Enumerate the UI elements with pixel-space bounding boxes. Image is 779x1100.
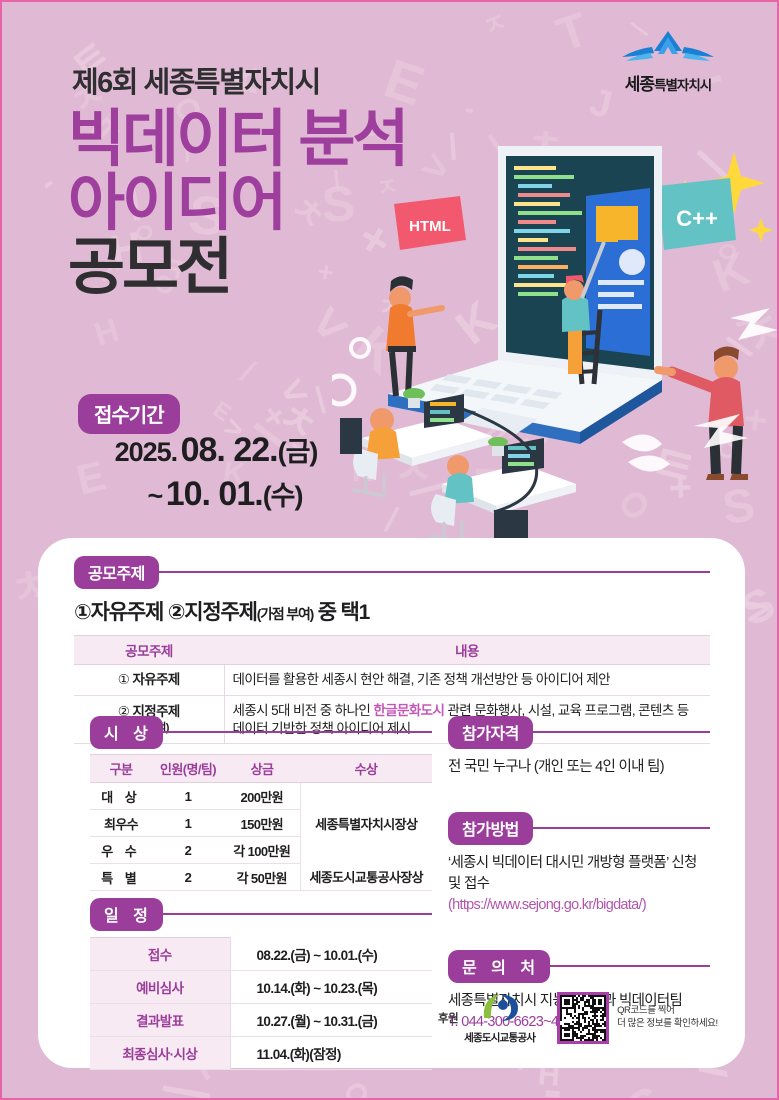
section-eligibility: 참가자격 전 국민 누구나 (개인 또는 4인 이내 팀) xyxy=(448,718,710,778)
awards-col-head-1: 인원(명/팀) xyxy=(152,755,224,783)
topic-subtitle-main: ①자유주제 ②지정주제 xyxy=(74,601,257,624)
section-eligibility-header: 참가자격 xyxy=(448,718,710,746)
table-row: ① 자유주제 데이터를 활용한 세종시 현안 해결, 기존 정책 개선방안 등 … xyxy=(74,665,710,696)
section-howto: 참가방법 ‘세종시 빅데이터 대시민 개방형 플랫폼’ 신청 및 접수 (htt… xyxy=(448,814,710,916)
sejong-city-logo: 세종특별자치시 xyxy=(593,29,743,95)
howto-url[interactable]: (https://www.sejong.go.kr/bigdata/) xyxy=(448,895,710,916)
award-row-2-count: 2 xyxy=(152,837,224,864)
table-row: 예비심사 10.14.(화) ~ 10.23.(목) xyxy=(90,971,432,1004)
date-range-dash: ~ xyxy=(147,481,162,511)
award-row-0-count: 1 xyxy=(152,783,224,810)
topic-subtitle: ①자유주제 ②지정주제(가점 부여) 중 택1 xyxy=(74,596,710,626)
eligibility-body: 전 국민 누구나 (개인 또는 4인 이내 팀) xyxy=(448,757,710,778)
qr-block: QR코드를 찍어 더 많은 정보를 확인하세요! xyxy=(557,992,718,1044)
html-tag-badge: HTML xyxy=(394,196,466,250)
person-pointing xyxy=(386,276,442,396)
howto-body: ‘세종시 빅데이터 대시민 개방형 플랫폼’ 신청 및 접수 (https://… xyxy=(448,853,710,916)
schedule-table: 접수 08.22.(금) ~ 10.01.(수) 예비심사 10.14.(화) … xyxy=(90,937,432,1070)
topic-col-head-1: 내용 xyxy=(224,636,710,665)
date-start-value: 08. 22. xyxy=(181,431,278,469)
section-schedule: 일 정 접수 08.22.(금) ~ 10.01.(수) 예비심사 10.14.… xyxy=(90,900,432,1070)
award-row-1-grade: 최우수 xyxy=(90,810,152,837)
award-row-0-grade: 대 상 xyxy=(90,783,152,810)
award-row-3-count: 2 xyxy=(152,864,224,891)
schedule-row-2-label: 결과발표 xyxy=(90,1004,230,1037)
topic-col-head-0: 공모주제 xyxy=(74,636,224,665)
laptop-graphic xyxy=(388,146,662,444)
topic-subtitle-tail: 중 택1 xyxy=(313,601,369,624)
howto-text: ‘세종시 빅데이터 대시민 개방형 플랫폼’ 신청 및 접수 xyxy=(448,853,710,895)
section-awards-badge: 시 상 xyxy=(90,716,163,749)
qr-code-pattern xyxy=(560,995,606,1041)
date-row-start: 2025. 08. 22.(금) xyxy=(66,430,366,470)
topic-subtitle-note: (가점 부여) xyxy=(257,606,313,622)
person-presenting xyxy=(658,346,748,480)
awards-col-head-3: 수상 xyxy=(300,755,432,783)
award-row-3-grade: 특 별 xyxy=(90,864,152,891)
page-kicker: 제6회 세종특별자치시 xyxy=(72,59,320,101)
qr-caption-line1: QR코드를 찍어 xyxy=(617,1005,718,1018)
award-row-2-prize: 각 100만원 xyxy=(224,837,300,864)
card-footer: 후원 세종도시교통공사 QR코드를 찍어 더 많은 정보를 확인하세요! xyxy=(438,990,728,1045)
section-schedule-badge: 일 정 xyxy=(90,898,163,931)
hero-illustration: HTML C++ xyxy=(332,122,779,542)
poster-root: ㅈ\Sㅋ-ㅊEJ+-ㅊ--ㅈㅊ<>\SH/>Iㅊ+ㅣIS/SSEㅌ\ㅇKㅡ\>+… xyxy=(0,0,779,1100)
award-cell-bottom: 세종도시교통공사장상 xyxy=(300,864,432,891)
html-tag-label: HTML xyxy=(409,218,451,235)
section-rule xyxy=(157,913,432,915)
topic-row-1-highlight: 한글문화도시 xyxy=(373,703,444,718)
schedule-row-1-label: 예비심사 xyxy=(90,971,230,1004)
award-row-2-grade: 우 수 xyxy=(90,837,152,864)
award-row-1-count: 1 xyxy=(152,810,224,837)
sponsor-logo: 세종도시교통공사 xyxy=(464,990,535,1045)
table-row: 최종심사·시상 11.04.(화)(잠정) xyxy=(90,1037,432,1070)
cpp-tag-label: C++ xyxy=(676,206,718,231)
sejong-city-logo-text: 세종특별자치시 xyxy=(593,70,743,95)
sponsor-name: 세종도시교통공사 xyxy=(464,1030,535,1045)
table-row: 접수 08.22.(금) ~ 10.01.(수) xyxy=(90,938,432,971)
table-row: 대 상 1 200만원 세종특별자치시장상 xyxy=(90,783,432,810)
qr-code-icon[interactable] xyxy=(557,992,609,1044)
schedule-row-2-value: 10.27.(월) ~ 10.31.(금) xyxy=(230,1004,432,1037)
qr-caption-line2: 더 많은 정보를 확인하세요! xyxy=(617,1018,718,1031)
section-contact-header: 문 의 처 xyxy=(448,952,710,980)
schedule-row-3-label: 최종심사·시상 xyxy=(90,1037,230,1070)
section-awards: 시 상 구분 인원(명/팀) 상금 수상 대 상 1 200만원 xyxy=(90,718,432,891)
sponsor-label: 후원 xyxy=(438,1010,458,1026)
sejong-transport-logo-icon xyxy=(478,990,522,1024)
table-row: 결과발표 10.27.(월) ~ 10.31.(금) xyxy=(90,1004,432,1037)
section-rule xyxy=(527,731,710,733)
section-rule xyxy=(544,965,710,967)
topic-row-0-content-pre: 데이터를 활용한 세종시 현안 해결, 기존 정책 개선방안 등 아이디어 제안 xyxy=(233,672,610,687)
topic-row-1-content-pre: 세종시 5대 비전 중 하나인 xyxy=(233,703,374,718)
date-row-end: ~ 10. 01.(수) xyxy=(66,474,366,514)
section-topic: 공모주제 ①자유주제 ②지정주제(가점 부여) 중 택1 공모주제 내용 ① 자… xyxy=(74,558,710,744)
award-row-1-prize: 150만원 xyxy=(224,810,300,837)
section-rule xyxy=(153,571,710,573)
logo-name-main: 세종 xyxy=(625,75,654,94)
qr-caption: QR코드를 찍어 더 많은 정보를 확인하세요! xyxy=(617,1005,718,1031)
application-period-dates: 2025. 08. 22.(금) ~ 10. 01.(수) xyxy=(66,430,366,514)
topic-row-0-num: ① xyxy=(118,672,130,687)
topic-row-0-name: 자유주제 xyxy=(132,672,179,687)
schedule-row-0-label: 접수 xyxy=(90,938,230,971)
awards-col-head-0: 구분 xyxy=(90,755,152,783)
section-howto-header: 참가방법 xyxy=(448,814,710,842)
section-awards-header: 시 상 xyxy=(90,718,432,746)
schedule-row-0-value: 08.22.(금) ~ 10.01.(수) xyxy=(230,938,432,971)
topic-row-0-content: 데이터를 활용한 세종시 현안 해결, 기존 정책 개선방안 등 아이디어 제안 xyxy=(224,665,710,696)
topic-row-0-label: ① 자유주제 xyxy=(74,665,224,696)
section-topic-header: 공모주제 xyxy=(74,558,710,586)
date-end-value: 10. 01. xyxy=(166,475,263,513)
date-start-weekday: (금) xyxy=(278,437,318,467)
logo-name-sub: 특별자치시 xyxy=(654,78,711,93)
award-cell-top: 세종특별자치시장상 xyxy=(300,783,432,864)
sponsor-block: 후원 세종도시교통공사 xyxy=(438,990,535,1045)
topic-table-header-row: 공모주제 내용 xyxy=(74,636,710,665)
awards-table-header-row: 구분 인원(명/팀) 상금 수상 xyxy=(90,755,432,783)
date-year: 2025. xyxy=(115,437,178,467)
awards-table: 구분 인원(명/팀) 상금 수상 대 상 1 200만원 세종특별자치시장상 최… xyxy=(90,754,432,891)
section-schedule-header: 일 정 xyxy=(90,900,432,928)
section-rule xyxy=(527,827,710,829)
section-eligibility-badge: 참가자격 xyxy=(448,716,533,749)
schedule-row-3-value: 11.04.(화)(잠정) xyxy=(230,1037,432,1070)
info-card: 공모주제 ①자유주제 ②지정주제(가점 부여) 중 택1 공모주제 내용 ① 자… xyxy=(38,538,745,1068)
section-rule xyxy=(157,731,432,733)
sejong-wing-icon xyxy=(616,29,720,69)
awards-col-head-2: 상금 xyxy=(224,755,300,783)
date-end-weekday: (수) xyxy=(263,481,303,511)
application-period-badge: 접수기간 xyxy=(78,394,180,434)
section-howto-badge: 참가방법 xyxy=(448,812,533,845)
award-row-0-prize: 200만원 xyxy=(224,783,300,810)
isometric-workspace-illustration: HTML C++ xyxy=(332,122,779,542)
table-row: 특 별 2 각 50만원 세종도시교통공사장상 xyxy=(90,864,432,891)
section-contact-badge: 문 의 처 xyxy=(448,950,550,983)
award-row-3-prize: 각 50만원 xyxy=(224,864,300,891)
cpp-tag-badge: C++ xyxy=(658,178,736,250)
section-topic-badge: 공모주제 xyxy=(74,556,159,589)
schedule-row-1-value: 10.14.(화) ~ 10.23.(목) xyxy=(230,971,432,1004)
